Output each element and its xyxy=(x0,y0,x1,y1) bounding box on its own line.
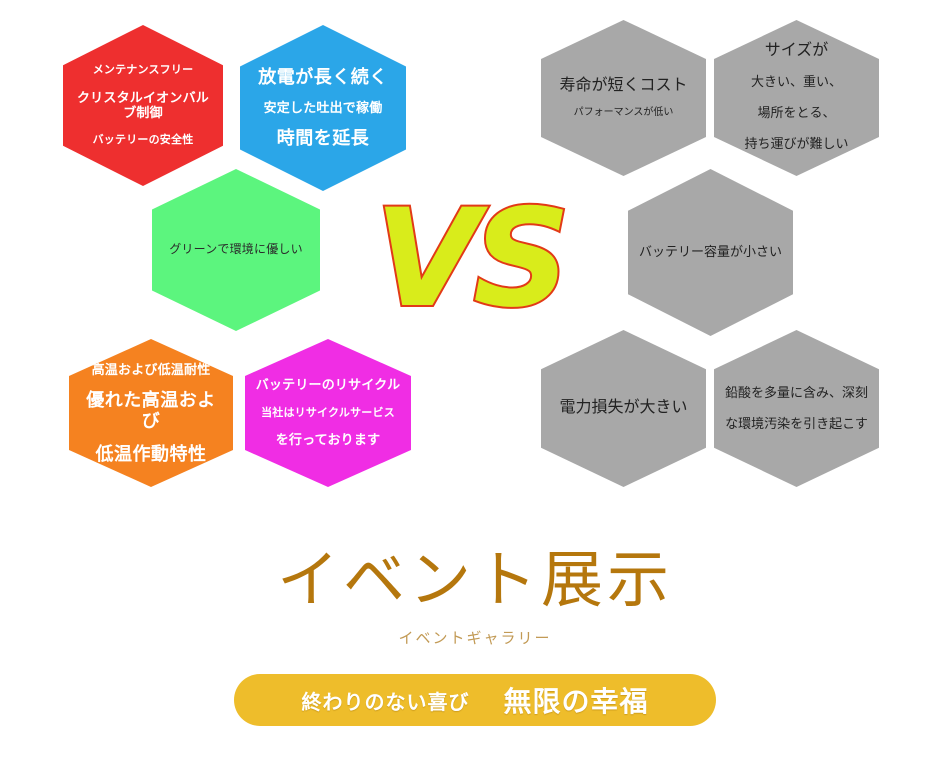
hex-line: パフォーマンスが低い xyxy=(551,107,696,119)
hex-bulky-size[interactable]: サイズが大きい、重い、場所をとる、持ち運びが難しい xyxy=(714,20,879,176)
cta-right-text: 無限の幸福 xyxy=(503,680,648,720)
hex-line: 優れた高温および xyxy=(79,390,223,431)
hex-line: 寿命が短くコスト xyxy=(551,77,696,95)
cta-banner[interactable]: 終わりのない喜び 無限の幸福 xyxy=(234,674,716,726)
hex-line: 低温作動特性 xyxy=(79,444,223,465)
hex-maintenance-free[interactable]: メンテナンスフリークリスタルイオンバルブ制御バッテリーの安全性 xyxy=(63,25,223,186)
hex-long-discharge[interactable]: 放電が長く続く安定した吐出で稼働時間を延長 xyxy=(240,25,406,191)
hex-line: 大きい、重い、 xyxy=(724,75,869,90)
hex-lead-acid-pollution[interactable]: 鉛酸を多量に含み、深刻な環境汚染を引き起こす xyxy=(714,330,879,487)
hex-line: 場所をとる、 xyxy=(724,106,869,121)
hex-line: バッテリーの安全性 xyxy=(73,134,213,147)
vs-badge: VS xyxy=(372,178,567,338)
hex-short-life-cost[interactable]: 寿命が短くコストパフォーマンスが低い xyxy=(541,20,706,176)
hex-line: グリーンで環境に優しい xyxy=(162,243,310,257)
hex-line: 安定した吐出で稼働 xyxy=(250,101,396,116)
hex-line: メンテナンスフリー xyxy=(73,64,213,77)
hex-line: を行っております xyxy=(255,433,401,448)
hex-line: サイズが xyxy=(724,42,869,60)
hex-eco-friendly[interactable]: グリーンで環境に優しい xyxy=(152,169,320,331)
cta-left-text: 終わりのない喜び xyxy=(301,686,469,715)
hex-line: 持ち運びが難しい xyxy=(724,137,869,152)
hex-line: 高温および低温耐性 xyxy=(79,363,223,378)
event-section: イベント展示 イベントギャラリー 終わりのない喜び 無限の幸福 xyxy=(0,548,950,726)
hex-line: 当社はリサイクルサービス xyxy=(255,407,401,420)
hex-line: 時間を延長 xyxy=(250,128,396,149)
hex-battery-recycling[interactable]: バッテリーのリサイクル当社はリサイクルサービスを行っております xyxy=(245,339,411,487)
hex-line: バッテリーのリサイクル xyxy=(255,378,401,393)
hex-small-capacity[interactable]: バッテリー容量が小さい xyxy=(628,169,793,336)
hex-line: バッテリー容量が小さい xyxy=(638,245,783,260)
infographic-canvas: メンテナンスフリークリスタルイオンバルブ制御バッテリーの安全性 放電が長く続く安… xyxy=(0,0,950,775)
hex-temperature-tolerance[interactable]: 高温および低温耐性優れた高温および低温作動特性 xyxy=(69,339,233,487)
hex-line: クリスタルイオンバルブ制御 xyxy=(73,91,213,121)
hex-line: 鉛酸を多量に含み、深刻 xyxy=(724,386,869,401)
hex-power-loss[interactable]: 電力損失が大きい xyxy=(541,330,706,487)
event-subtitle: イベントギャラリー xyxy=(398,627,551,648)
hex-line: な環境汚染を引き起こす xyxy=(724,417,869,432)
hex-line: 放電が長く続く xyxy=(250,67,396,88)
event-title: イベント展示 xyxy=(277,548,673,613)
hex-line: 電力損失が大きい xyxy=(551,399,696,417)
